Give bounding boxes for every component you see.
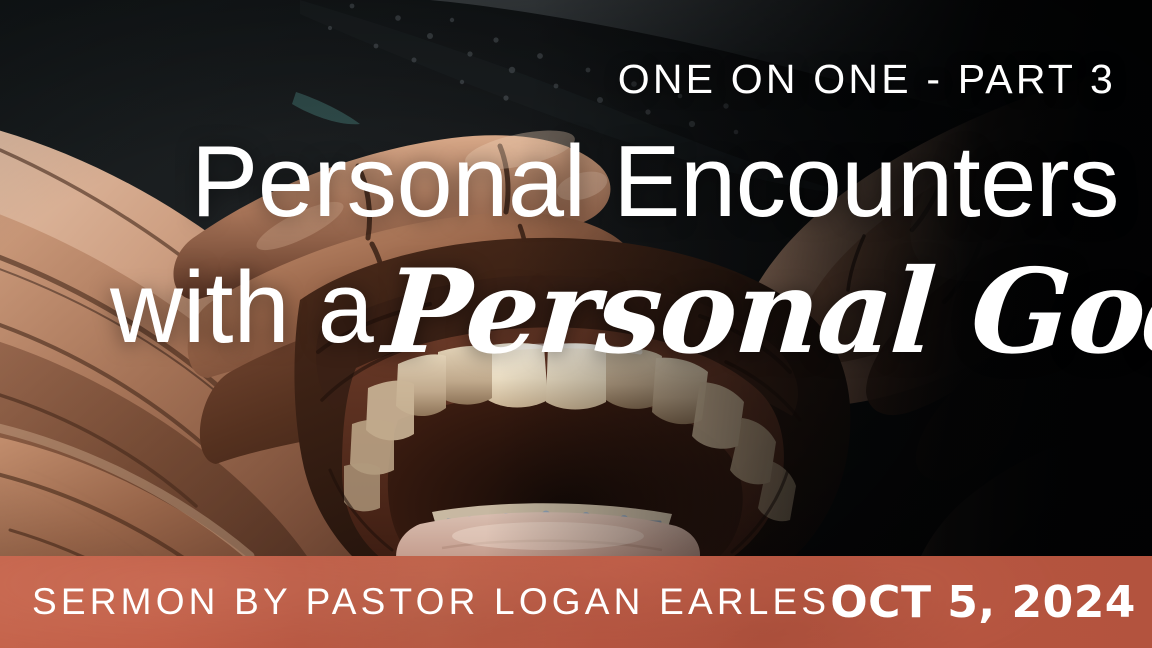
background-photograph xyxy=(0,0,1152,648)
sermon-date: OCT 5, 2024 xyxy=(830,577,1136,628)
banner-content: SERMON BY PASTOR LOGAN EARLES OCT 5, 202… xyxy=(0,556,1152,648)
sermon-title-poster: ONE ON ONE - PART 3 Personal Encounters … xyxy=(0,0,1152,648)
credit-banner: SERMON BY PASTOR LOGAN EARLES OCT 5, 202… xyxy=(0,556,1152,648)
speaker-credit: SERMON BY PASTOR LOGAN EARLES xyxy=(32,581,830,623)
